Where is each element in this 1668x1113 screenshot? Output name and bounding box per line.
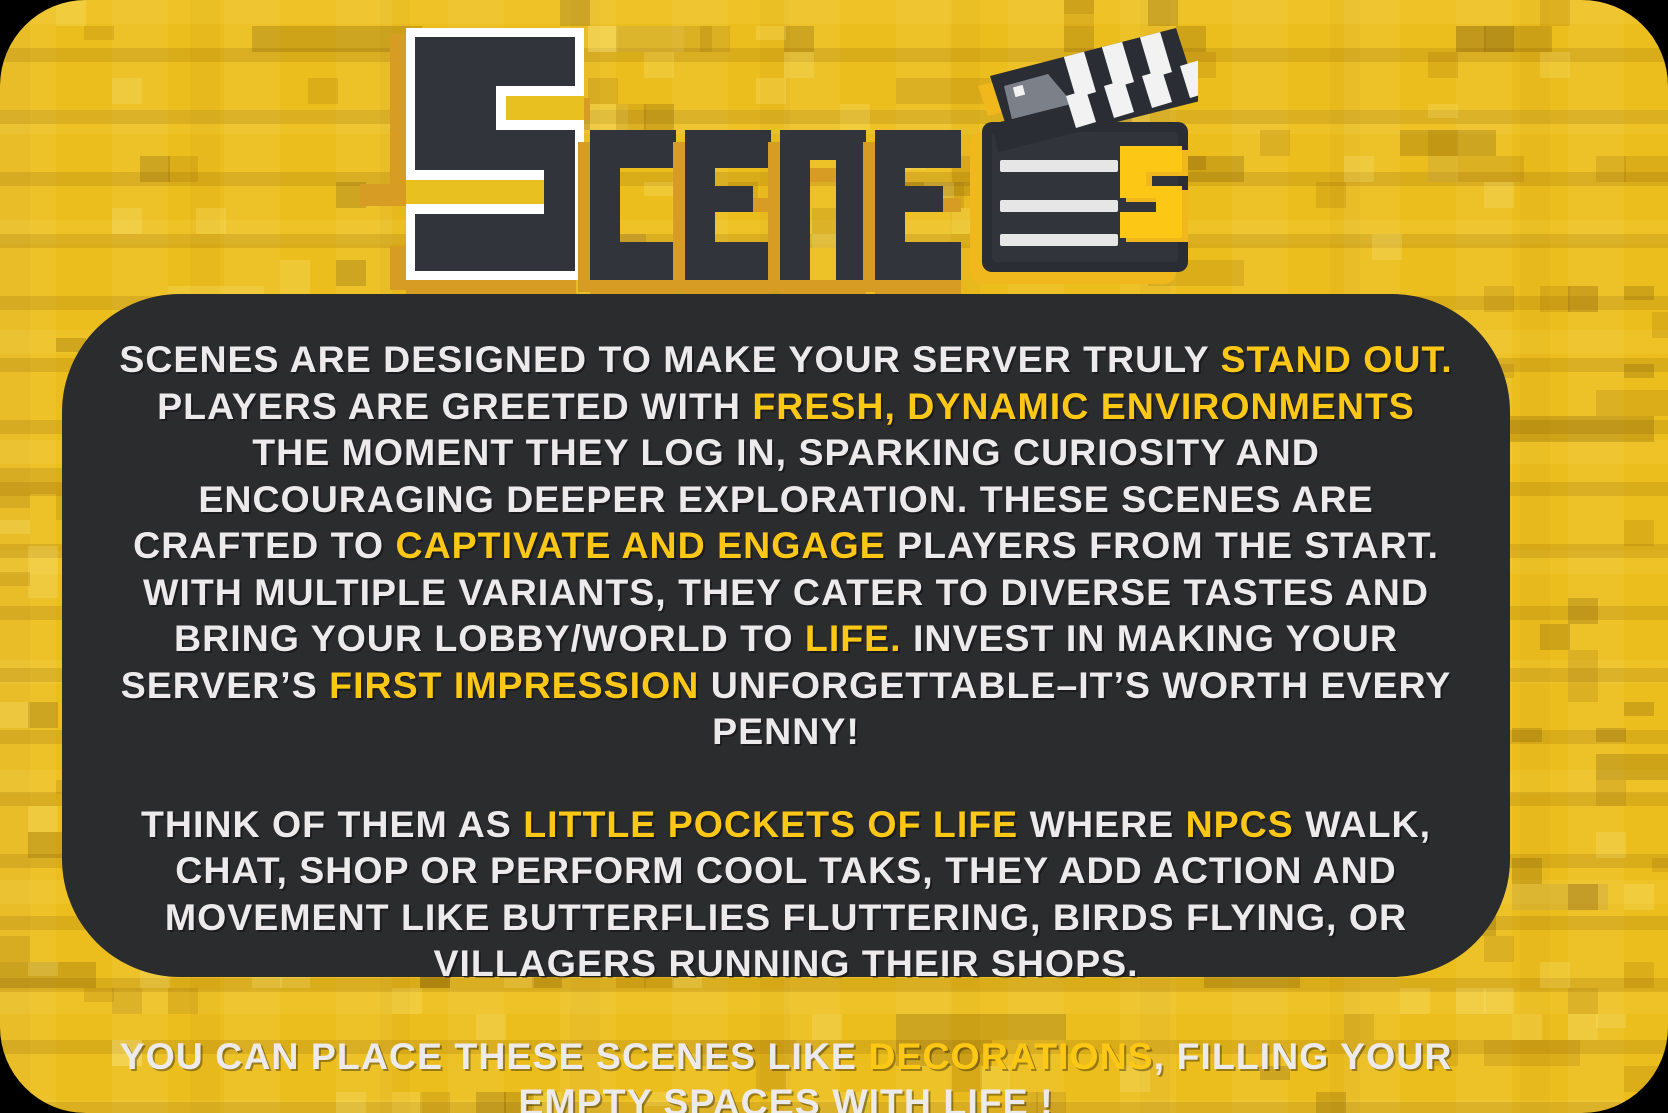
brick-pixel [1652, 104, 1668, 130]
brick-pixel [308, 78, 338, 92]
brick-pixel [1652, 312, 1668, 338]
brick-pixel [1456, 988, 1486, 1014]
brick-pixel [1596, 728, 1626, 742]
brick-pixel [112, 208, 142, 234]
brick-pixel [0, 520, 30, 534]
body-text: unforgettable–it’s worth every penny! [699, 664, 1451, 753]
description-copy: Scenes are designed to make your server … [116, 336, 1456, 1113]
brick-pixel [140, 156, 170, 182]
highlight-text: decorations [868, 1035, 1153, 1077]
highlight-text: NPCs [1186, 803, 1294, 845]
brick-pixel [56, 0, 86, 26]
brick-pixel [1428, 130, 1458, 156]
brick-pixel [1568, 884, 1598, 910]
brick-pixel [1596, 182, 1668, 208]
brick-pixel [1484, 988, 1514, 1014]
brick-pixel [1652, 832, 1668, 858]
brick-pixel [1540, 286, 1570, 312]
brick-pixel [28, 806, 58, 832]
logo-wordmark-cene [590, 130, 961, 280]
brick-pixel [1400, 208, 1496, 234]
brick-pixel [28, 546, 58, 572]
highlight-text: little pockets of life [523, 803, 1018, 845]
brick-pixel [1512, 286, 1542, 300]
brick-pixel [1652, 0, 1668, 26]
brick-pixel [252, 208, 422, 234]
brick-pixel [1624, 104, 1654, 118]
paragraph-spacer [116, 987, 1456, 1033]
brick-pixel [1456, 26, 1552, 52]
brick-pixel [1484, 1040, 1580, 1066]
brick-pixel [196, 182, 292, 196]
brick-pixel [1652, 858, 1668, 872]
brick-pixel [1596, 832, 1626, 858]
brick-pixel [1344, 156, 1374, 182]
brick-pixel [0, 988, 30, 1002]
brick-pixel [1512, 1014, 1542, 1040]
brick-pixel [196, 104, 226, 118]
brick-pixel [1428, 52, 1458, 78]
scenes-logo [400, 18, 1200, 290]
brick-pixel [1652, 884, 1668, 898]
description-panel: Scenes are designed to make your server … [62, 294, 1510, 977]
brick-pixel [1624, 1066, 1668, 1092]
brick-pixel [1064, 0, 1094, 14]
brick-pixel [1484, 0, 1654, 26]
brick-pixel [112, 78, 142, 104]
brick-pixel [28, 962, 58, 976]
brick-pixel [1484, 286, 1514, 312]
brick-pixel [1456, 182, 1486, 196]
highlight-text: life. [805, 617, 902, 659]
logo-glyph-c [590, 130, 676, 280]
body-text: Think of them as [141, 803, 523, 845]
brick-pixel [1540, 962, 1636, 976]
brick-pixel [196, 208, 226, 234]
brick-pixel [1596, 26, 1668, 52]
body-text: You can place these scenes like [120, 1035, 869, 1077]
highlight-text: fresh, dynamic environments [752, 385, 1414, 427]
brick-pixel [1624, 364, 1654, 378]
brick-pixel [1624, 286, 1654, 300]
brick-pixel [1568, 286, 1598, 312]
brick-pixel [1540, 936, 1668, 962]
brick-pixel [1568, 78, 1668, 104]
brick-pixel [0, 494, 30, 508]
body-text: where [1018, 803, 1185, 845]
brick-pixel [224, 234, 254, 248]
clapperboard-icon [948, 28, 1198, 290]
highlight-text: captivate and engage [396, 524, 886, 566]
brick-pixel [1624, 520, 1654, 546]
brick-pixel [0, 936, 30, 962]
brick-pixel [1596, 1014, 1626, 1028]
highlight-text: stand out. [1220, 338, 1452, 380]
brick-pixel [28, 702, 58, 728]
brick-pixel [1596, 156, 1626, 182]
logo-glyph-n [780, 130, 866, 280]
brick-pixel [1540, 624, 1570, 650]
brick-pixel [1568, 598, 1598, 624]
brick-pixel [1316, 182, 1346, 208]
brick-pixel [1400, 78, 1430, 92]
brick-pixel [1652, 1092, 1668, 1113]
brick-pixel [0, 1040, 30, 1054]
paragraph-pockets-of-life: Think of them as little pockets of life … [116, 801, 1456, 987]
brick-pixel [1428, 104, 1458, 118]
brick-pixel [1624, 156, 1668, 182]
brick-pixel [1260, 130, 1290, 156]
brick-pixel [1624, 884, 1654, 910]
brick-pixel [1568, 1014, 1598, 1040]
logo-glyph-e [685, 130, 771, 280]
brick-pixel [168, 156, 198, 182]
highlight-text: first impression [329, 664, 699, 706]
brick-pixel [252, 104, 348, 130]
brick-pixel [196, 260, 366, 286]
paragraph-decorations: You can place these scenes like decorati… [116, 1033, 1456, 1113]
paragraph-intro: Scenes are designed to make your server … [116, 336, 1456, 755]
brick-pixel [84, 26, 114, 40]
brick-pixel [1540, 312, 1668, 338]
brick-pixel [1596, 754, 1668, 780]
brick-pixel [1428, 156, 1524, 182]
brick-pixel [1624, 962, 1654, 988]
brick-pixel [1652, 208, 1668, 222]
logo-letter-s [406, 28, 584, 280]
brick-pixel [1484, 936, 1514, 962]
paragraph-spacer [116, 755, 1456, 801]
brick-pixel [1596, 390, 1626, 404]
brick-pixel [1484, 1092, 1580, 1113]
brick-pixel [1624, 130, 1668, 144]
brick-pixel [1596, 780, 1626, 806]
poster-root: Scenes are designed to make your server … [0, 0, 1668, 1113]
body-text: Scenes are designed to make your server … [119, 338, 1220, 380]
brick-pixel [28, 130, 124, 156]
brick-pixel [1232, 208, 1262, 222]
brick-pixel [0, 702, 30, 728]
brick-pixel [1512, 832, 1542, 846]
brick-pixel [1568, 676, 1598, 702]
brick-pixel [84, 78, 114, 92]
body-text: Players are greeted with [157, 385, 752, 427]
brick-pixel [1652, 234, 1668, 260]
brick-pixel [1036, 0, 1066, 14]
brick-pixel [1372, 234, 1402, 260]
brick-pixel [1568, 650, 1598, 676]
brick-pixel [1540, 52, 1570, 78]
brick-pixel [1596, 234, 1626, 248]
brick-pixel [1568, 988, 1598, 1014]
brick-pixel [1512, 858, 1542, 884]
brick-pixel [224, 130, 394, 144]
brick-pixel [1652, 442, 1668, 456]
brick-pixel [1624, 702, 1654, 716]
brick-pixel [1512, 78, 1542, 92]
